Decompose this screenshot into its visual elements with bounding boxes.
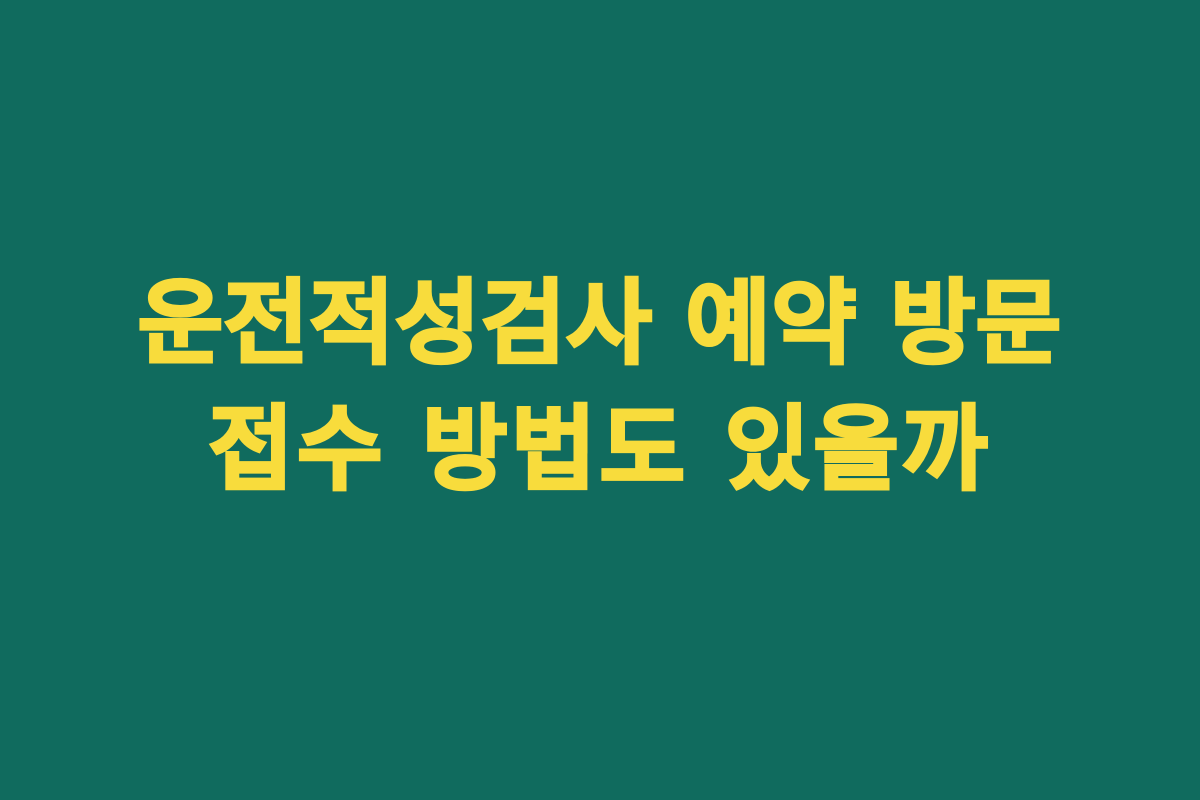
headline-line-1: 운전적성검사 예약 방문 [40,261,1160,387]
headline-line-2: 접수 방법도 있을까 [40,387,1160,513]
text-banner-card: 운전적성검사 예약 방문 접수 방법도 있을까 [0,0,1200,800]
headline-block: 운전적성검사 예약 방문 접수 방법도 있을까 [0,261,1200,513]
